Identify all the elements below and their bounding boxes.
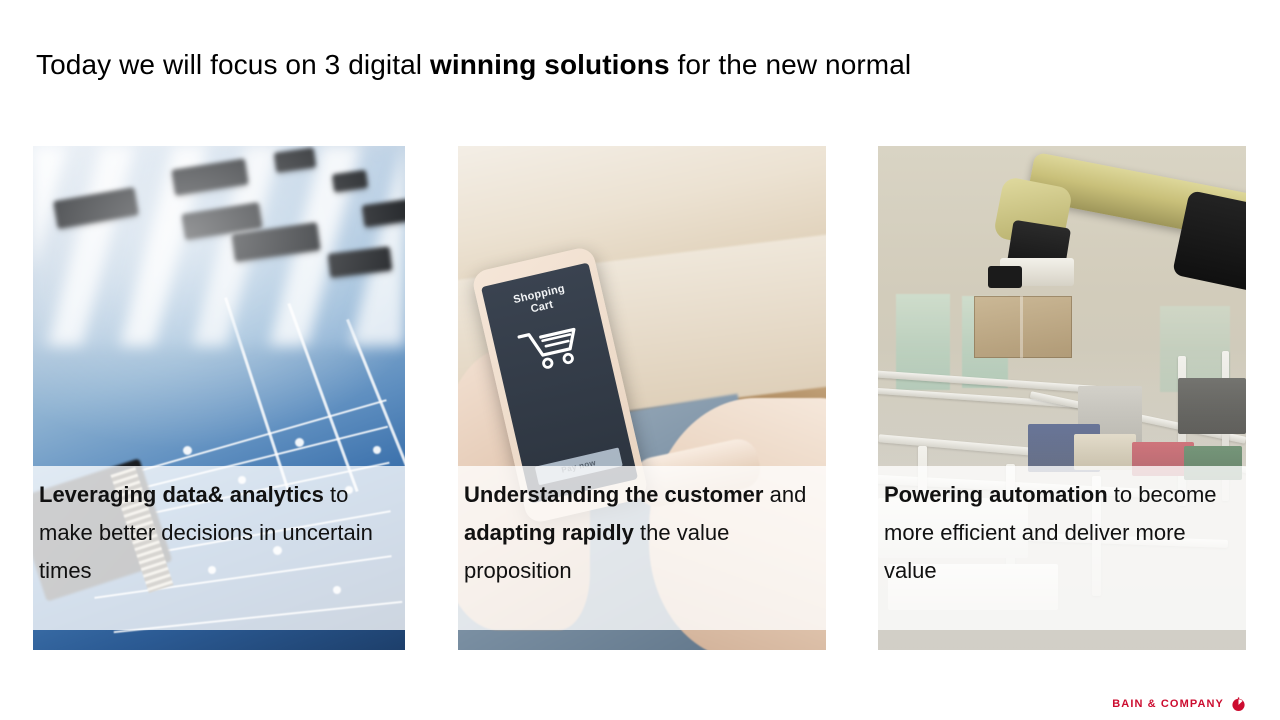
- card-caption: Powering automation to become more effic…: [878, 466, 1246, 630]
- bain-logo: BAIN & COMPANY: [1112, 697, 1246, 712]
- card-data-analytics[interactable]: Leveraging data& analytics to make bette…: [33, 146, 405, 650]
- phone-screen-title: Shopping Cart: [512, 283, 569, 320]
- page-title-emphasis: winning solutions: [430, 49, 670, 80]
- card-caption-text: Powering automation to become more effic…: [884, 476, 1240, 590]
- card-caption-bold-1: Powering automation: [884, 482, 1108, 507]
- bain-logo-text: BAIN & COMPANY: [1112, 699, 1224, 710]
- page-title-suffix: for the new normal: [670, 49, 912, 80]
- page-title-prefix: Today we will focus on 3 digital: [36, 49, 430, 80]
- card-caption: Understanding the customer and adapting …: [458, 466, 826, 630]
- card-caption-bold-2: adapting rapidly: [464, 520, 634, 545]
- card-customer[interactable]: Shopping Cart Pay now: [458, 146, 826, 650]
- slide-canvas: Today we will focus on 3 digital winning…: [0, 0, 1280, 720]
- card-caption-bold-2: analytics: [230, 482, 324, 507]
- card-caption-bold-1: Leveraging data&: [39, 482, 224, 507]
- shopping-cart-icon: [516, 317, 587, 376]
- card-caption-text: Understanding the customer and adapting …: [464, 476, 820, 590]
- card-caption-text: Leveraging data& analytics to make bette…: [39, 476, 399, 590]
- bain-circle-mark-icon: [1231, 697, 1246, 712]
- card-caption-mid: and: [763, 482, 806, 507]
- card-automation[interactable]: Powering automation to become more effic…: [878, 146, 1246, 650]
- card-caption-bold-1: Understanding the customer: [464, 482, 763, 507]
- card-caption: Leveraging data& analytics to make bette…: [33, 466, 405, 630]
- page-title: Today we will focus on 3 digital winning…: [36, 48, 911, 82]
